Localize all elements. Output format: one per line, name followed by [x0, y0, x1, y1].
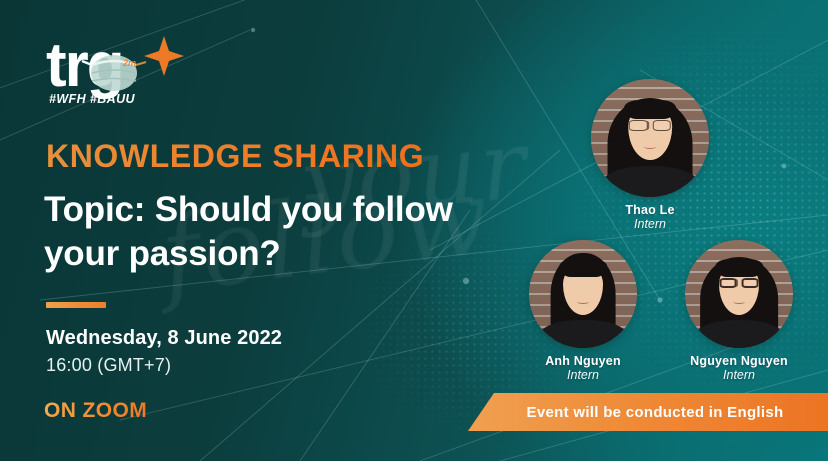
- event-platform: ON ZOOM: [44, 399, 147, 423]
- logo-hashtags: #WFH #BAUU: [49, 92, 135, 106]
- speaker-role: Intern: [658, 368, 820, 383]
- poster-content: trg 2m #WFH #BAUU KNOWLEDGE SHA: [0, 0, 480, 461]
- poster-kicker: KNOWLEDGE SHARING: [46, 138, 424, 175]
- speaker-name: Thao Le: [562, 203, 738, 217]
- poster-topic: Topic: Should you follow your passion?: [44, 188, 474, 277]
- speaker-card: Thao Le Intern: [562, 79, 738, 232]
- speaker-role: Intern: [508, 368, 658, 383]
- language-ribbon: Event will be conducted in English: [468, 393, 828, 431]
- speaker-role: Intern: [562, 217, 738, 232]
- speaker-card: Anh Nguyen Intern: [508, 240, 658, 383]
- event-time: 16:00 (GMT+7): [46, 355, 171, 376]
- speaker-name: Nguyen Nguyen: [658, 354, 820, 368]
- logo-superscript: 2m: [123, 58, 136, 68]
- event-date: Wednesday, 8 June 2022: [46, 327, 282, 350]
- avatar: [591, 79, 709, 197]
- language-ribbon-text: Event will be conducted in English: [513, 404, 784, 421]
- orange-divider: [46, 302, 106, 308]
- four-point-star-icon: [144, 36, 184, 76]
- trg-logo[interactable]: trg 2m #WFH #BAUU: [46, 31, 196, 111]
- event-poster: your follow: [0, 0, 828, 461]
- speaker-name: Anh Nguyen: [508, 354, 658, 368]
- avatar: [685, 240, 793, 348]
- speaker-card: Nguyen Nguyen Intern: [658, 240, 820, 383]
- avatar: [529, 240, 637, 348]
